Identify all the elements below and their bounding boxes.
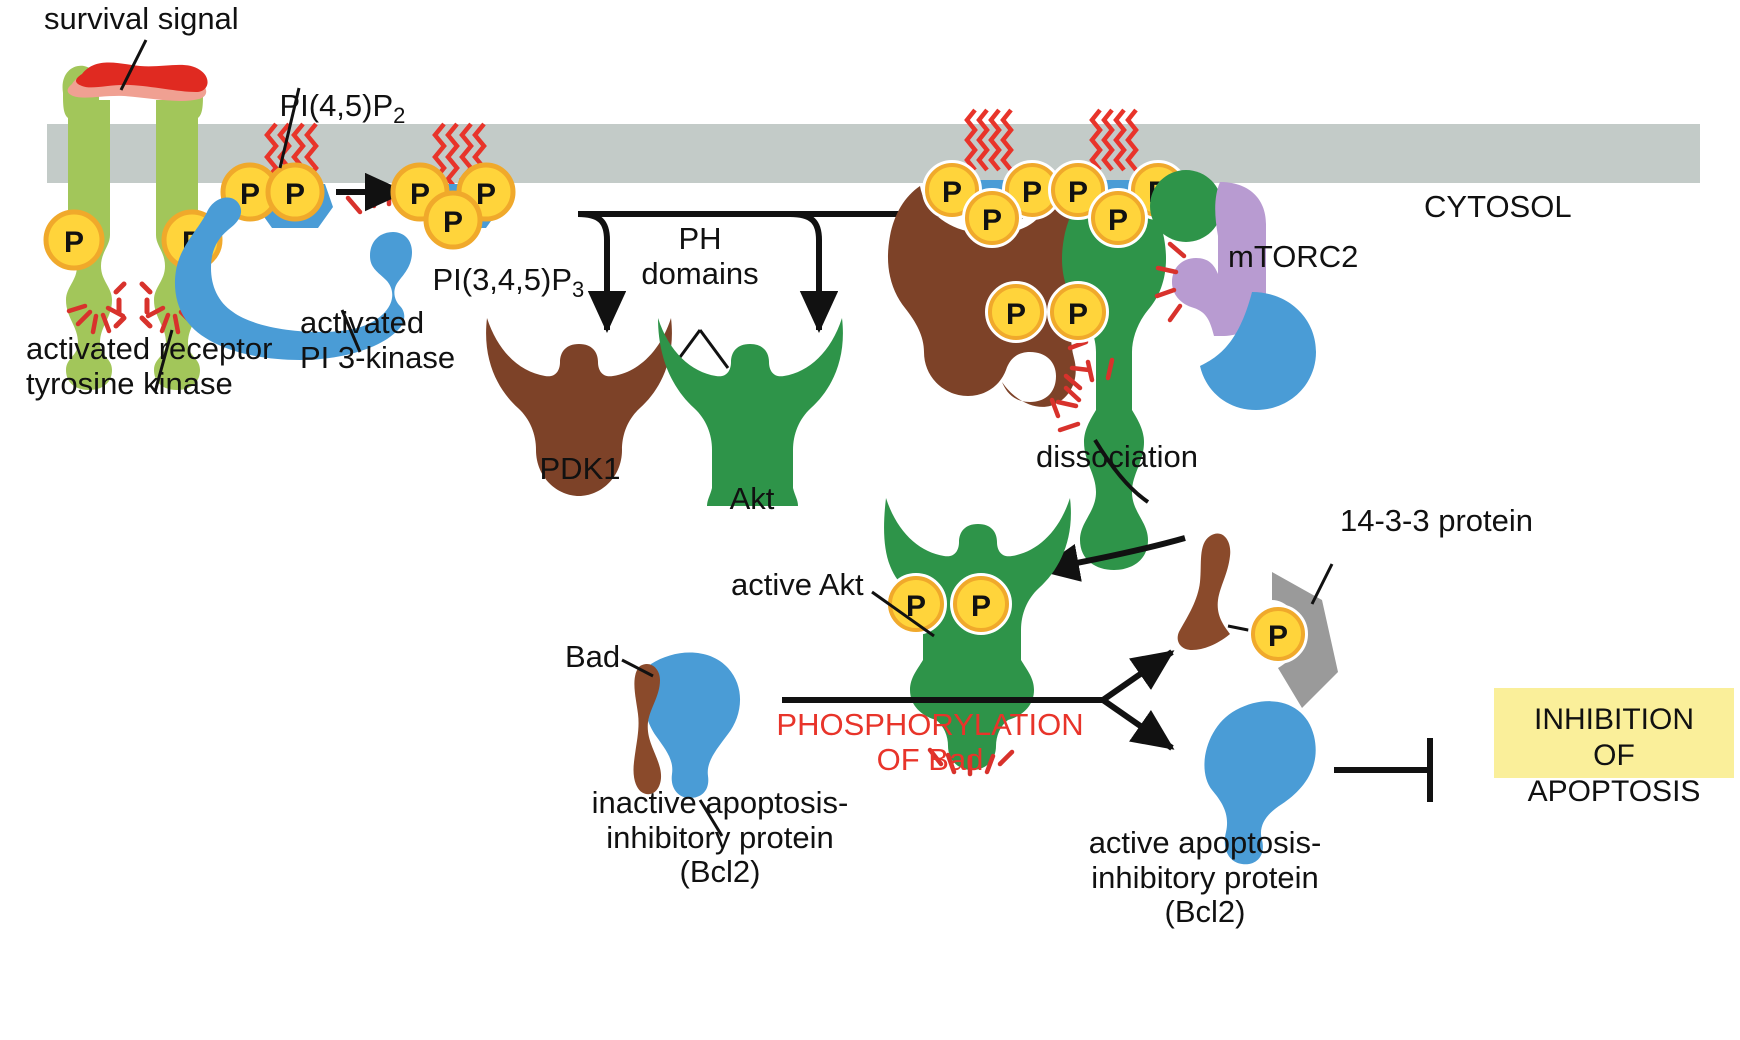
akt-body-phosphate-left: P	[988, 284, 1044, 340]
label-akt: Akt	[672, 482, 832, 517]
label-ph-domains: PH domains	[600, 222, 800, 291]
akt-protein	[658, 318, 843, 506]
diagram-canvas: P P P P	[0, 0, 1740, 1040]
14-3-3-leader-line	[1312, 564, 1332, 604]
mtorc2-green-subunit	[1150, 170, 1222, 242]
label-bad: Bad	[565, 640, 620, 675]
mtorc2-complex	[1150, 170, 1316, 410]
bad-phosphate-group: P	[1251, 607, 1305, 661]
pdk1-bound-phosphate-center: P	[965, 191, 1019, 245]
svg-text:P: P	[982, 204, 1002, 237]
label-survival-signal: survival signal	[44, 2, 239, 37]
label-phosphorylation-of-bad: PHOSPHORYLATION OF Bad	[760, 708, 1100, 777]
svg-text:P: P	[410, 178, 430, 211]
label-14-3-3-protein: 14-3-3 protein	[1340, 504, 1533, 539]
label-inactive-bcl2: inactive apoptosis- inhibitory protein (…	[540, 786, 900, 890]
svg-text:P: P	[1068, 298, 1088, 331]
label-pi45p2: PI(4,5)P2	[245, 54, 405, 163]
akt-body-phosphate-right: P	[1050, 284, 1106, 340]
inhibition-of-apoptosis-box: INHIBITION OF APOPTOSIS	[1494, 688, 1734, 778]
label-active-bcl2: active apoptosis- inhibitory protein (Bc…	[1020, 826, 1390, 930]
svg-text:P: P	[1108, 204, 1128, 237]
svg-text:P: P	[285, 178, 305, 211]
svg-text:P: P	[1068, 176, 1088, 209]
receptor-phosphate-left: P	[46, 212, 102, 268]
svg-text:P: P	[1022, 176, 1042, 209]
label-dissociation: dissociation	[1036, 440, 1198, 475]
label-pi345p3: PI(3,4,5)P3	[398, 228, 584, 337]
active-akt-phosphate-right: P	[953, 576, 1009, 632]
label-mtorc2: mTORC2	[1228, 240, 1358, 275]
label-active-akt: active Akt	[731, 568, 864, 603]
svg-text:P: P	[476, 178, 496, 211]
survival-signal-ligand	[68, 63, 208, 101]
svg-text:P: P	[1268, 620, 1288, 653]
label-activated-receptor-tyrosine-kinase: activated receptor tyrosine kinase	[26, 332, 296, 401]
label-pdk1: PDK1	[500, 452, 660, 487]
inhibition-bar-connector	[1334, 738, 1430, 802]
label-cytosol: CYTOSOL	[1424, 190, 1572, 225]
svg-text:P: P	[240, 178, 260, 211]
bad-phospho-14-3-3-complex: P	[1178, 533, 1338, 708]
svg-text:P: P	[942, 176, 962, 209]
pip2-phosphate-right: P	[268, 165, 322, 219]
svg-text:P: P	[1006, 298, 1026, 331]
akt-bound-phosphate-center: P	[1091, 191, 1145, 245]
svg-text:P: P	[971, 590, 991, 623]
svg-text:P: P	[64, 226, 84, 259]
bad-phospho-brown	[1178, 533, 1231, 650]
